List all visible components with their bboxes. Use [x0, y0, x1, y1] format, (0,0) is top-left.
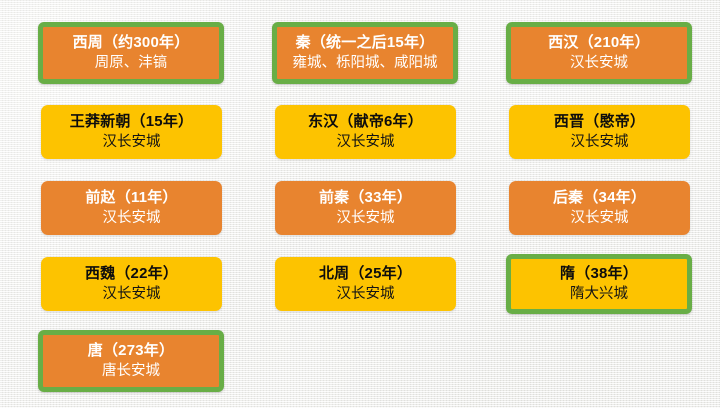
dynasty-card-capital: 汉长安城	[571, 211, 629, 226]
dynasty-card[interactable]: 西晋（愍帝）汉长安城	[509, 105, 690, 159]
dynasty-card[interactable]: 北周（25年）汉长安城	[275, 257, 456, 311]
dynasty-card[interactable]: 西魏（22年）汉长安城	[41, 257, 222, 311]
dynasty-card-title: 唐（273年）	[88, 343, 174, 358]
dynasty-card-capital: 汉长安城	[103, 211, 161, 226]
dynasty-card-capital: 汉长安城	[337, 135, 395, 150]
dynasty-card[interactable]: 秦（统一之后15年）雍城、栎阳城、咸阳城	[272, 22, 458, 84]
dynasty-card[interactable]: 唐（273年）唐长安城	[38, 330, 224, 392]
dynasty-card-title: 前赵（11年）	[85, 190, 177, 205]
dynasty-card-capital: 雍城、栎阳城、咸阳城	[293, 56, 438, 71]
dynasty-card-title: 王莽新朝（15年）	[70, 114, 194, 129]
dynasty-card[interactable]: 前赵（11年）汉长安城	[41, 181, 222, 235]
dynasty-card[interactable]: 王莽新朝（15年）汉长安城	[41, 105, 222, 159]
dynasty-card-title: 北周（25年）	[319, 266, 412, 281]
dynasty-card-title: 后秦（34年）	[553, 190, 646, 205]
dynasty-card-board: 西周（约300年）周原、沣镐秦（统一之后15年）雍城、栎阳城、咸阳城西汉（210…	[0, 0, 720, 408]
dynasty-card-capital: 汉长安城	[337, 211, 395, 226]
dynasty-card-capital: 隋大兴城	[570, 287, 628, 302]
dynasty-card-capital: 汉长安城	[570, 56, 628, 71]
dynasty-card[interactable]: 东汉（献帝6年）汉长安城	[275, 105, 456, 159]
dynasty-card[interactable]: 后秦（34年）汉长安城	[509, 181, 690, 235]
dynasty-card-title: 前秦（33年）	[319, 190, 412, 205]
dynasty-card-capital: 汉长安城	[571, 135, 629, 150]
dynasty-card-title: 西晋（愍帝）	[554, 114, 645, 129]
dynasty-card-title: 西汉（210年）	[548, 35, 650, 50]
dynasty-card-capital: 汉长安城	[337, 287, 395, 302]
dynasty-card-capital: 汉长安城	[103, 287, 161, 302]
dynasty-card-capital: 周原、沣镐	[95, 56, 168, 71]
dynasty-card[interactable]: 隋（38年）隋大兴城	[506, 254, 692, 314]
dynasty-card-capital: 唐长安城	[102, 364, 160, 379]
dynasty-card-title: 东汉（献帝6年）	[308, 114, 423, 129]
dynasty-card-capital: 汉长安城	[103, 135, 161, 150]
dynasty-card[interactable]: 西周（约300年）周原、沣镐	[38, 22, 224, 84]
dynasty-card-title: 西魏（22年）	[85, 266, 178, 281]
dynasty-card[interactable]: 西汉（210年）汉长安城	[506, 22, 692, 84]
dynasty-card-title: 隋（38年）	[560, 266, 638, 281]
dynasty-card[interactable]: 前秦（33年）汉长安城	[275, 181, 456, 235]
dynasty-card-title: 西周（约300年）	[73, 35, 190, 50]
dynasty-card-title: 秦（统一之后15年）	[296, 35, 435, 50]
